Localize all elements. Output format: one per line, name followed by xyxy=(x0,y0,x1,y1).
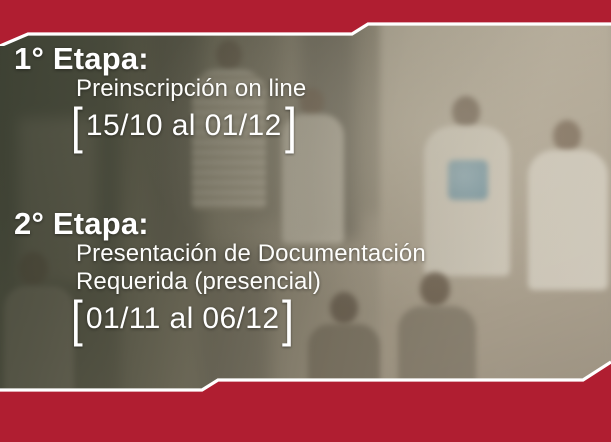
stage-2-date-row: [ 01/11 al 06/12 ] xyxy=(0,298,560,340)
stage-2-description: Presentación de Documentación Requerida … xyxy=(0,240,560,296)
bracket-left-icon: [ xyxy=(71,105,83,147)
stage-2-date-range: 01/11 al 06/12 xyxy=(86,304,280,334)
stage-2-description-line-2: Requerida (presencial) xyxy=(76,268,560,296)
stage-1-description: Preinscripción on line xyxy=(0,75,560,103)
stage-block-2: 2° Etapa: Presentación de Documentación … xyxy=(0,207,560,340)
stage-1-date-range: 15/10 al 01/12 xyxy=(86,111,282,141)
bracket-right-icon: ] xyxy=(282,298,294,340)
bracket-right-icon: ] xyxy=(285,105,297,147)
stage-2-description-line-1: Presentación de Documentación xyxy=(76,240,560,268)
poster-content: 1° Etapa: Preinscripción on line [ 15/10… xyxy=(0,0,611,442)
bracket-left-icon: [ xyxy=(71,298,83,340)
stage-block-1: 1° Etapa: Preinscripción on line [ 15/10… xyxy=(0,42,560,147)
stage-2-title: 2° Etapa: xyxy=(0,207,560,240)
stage-1-description-line-1: Preinscripción on line xyxy=(76,75,560,103)
stage-1-date-row: [ 15/10 al 01/12 ] xyxy=(0,105,560,147)
stage-1-title: 1° Etapa: xyxy=(0,42,560,75)
poster-root: 1° Etapa: Preinscripción on line [ 15/10… xyxy=(0,0,611,442)
